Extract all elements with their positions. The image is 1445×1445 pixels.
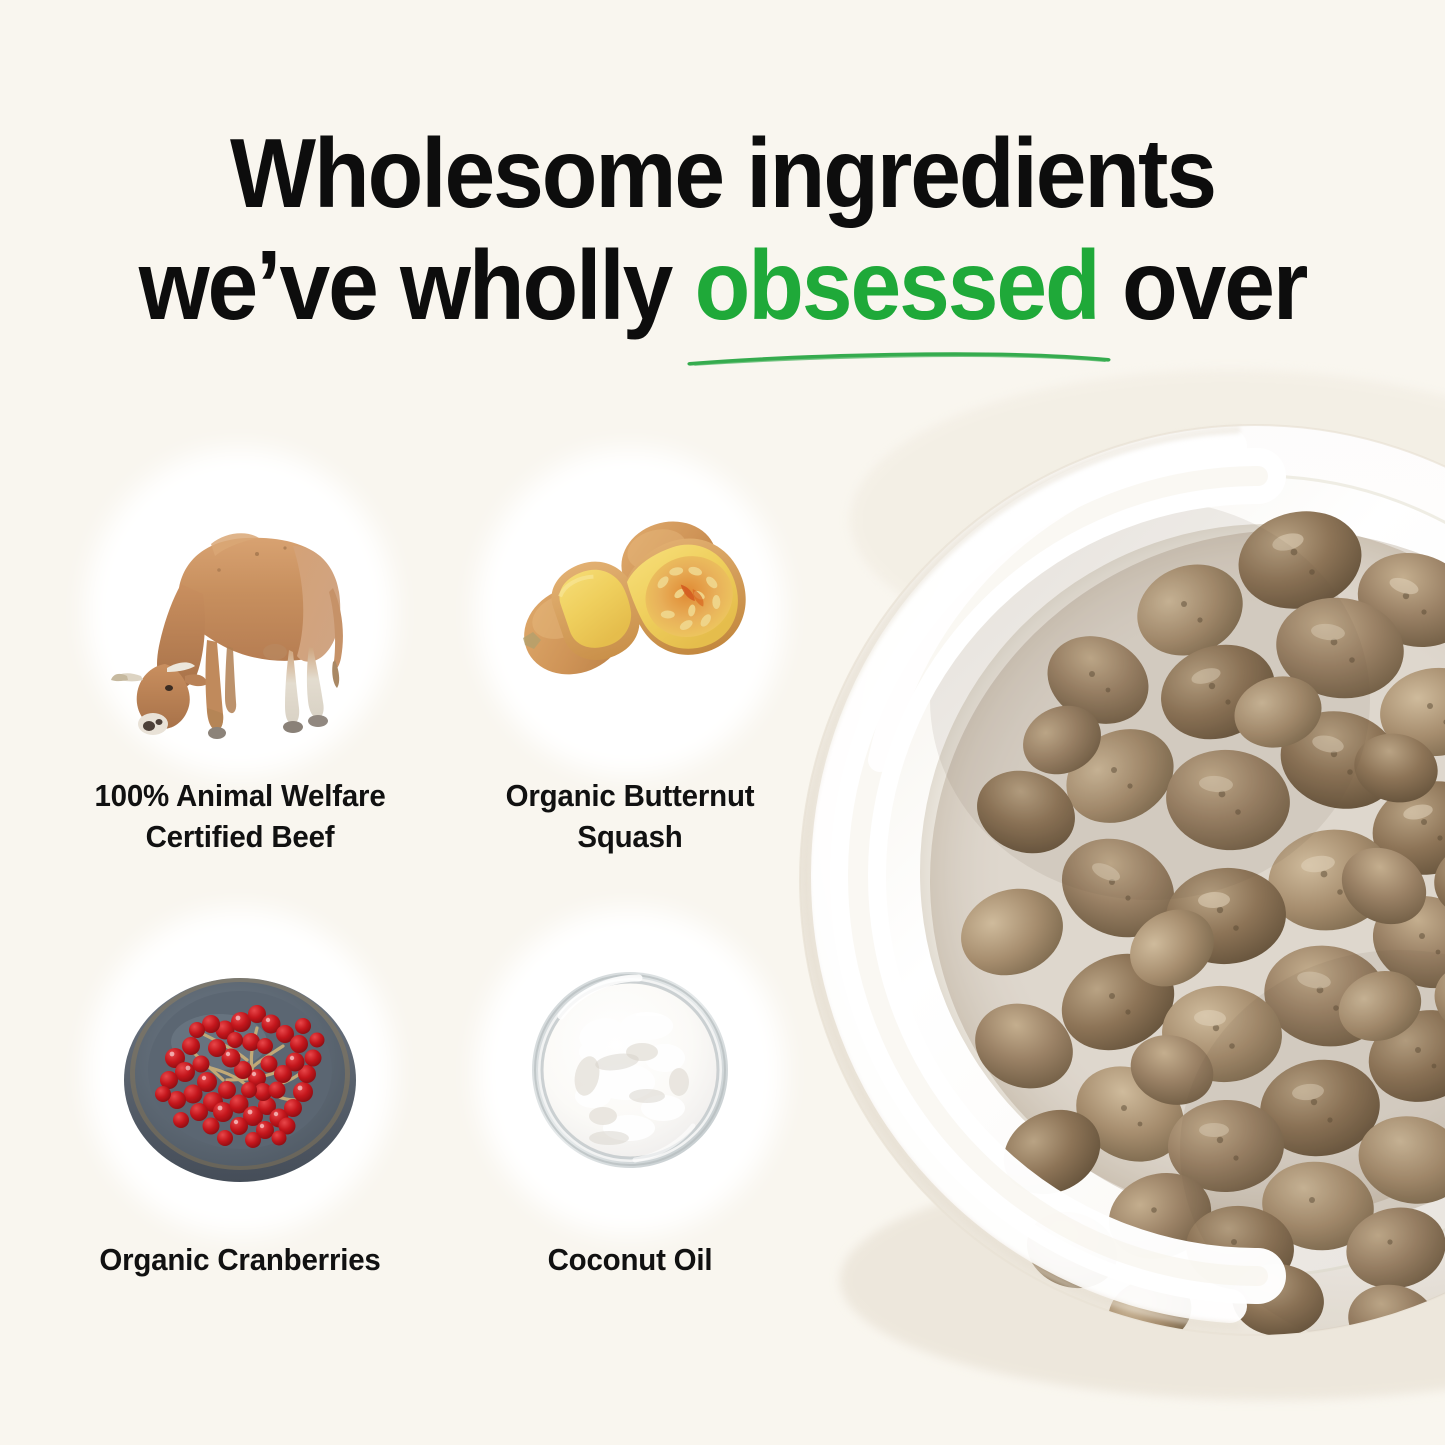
ingredients-grid: 100% Animal Welfare Certified Beef	[0, 470, 880, 1350]
ingredient-label-beef-line2: Certified Beef	[50, 817, 430, 858]
ingredient-image-squash	[497, 470, 763, 754]
ingredient-label-squash: Organic Butternut Squash	[440, 776, 820, 858]
grazing-cow-icon	[107, 470, 373, 754]
ingredient-item-cranberries: Organic Cranberries	[40, 930, 440, 1281]
promo-canvas: Wholesome ingredients we’ve wholly obses…	[0, 0, 1445, 1445]
headline-line-2: we’ve wholly obsessed over	[51, 230, 1395, 342]
ingredient-item-squash: Organic Butternut Squash	[430, 470, 830, 858]
cranberries-bowl-icon	[107, 930, 373, 1214]
ingredient-label-coconut-oil: Coconut Oil	[440, 1240, 820, 1281]
headline-line-1: Wholesome ingredients	[51, 118, 1395, 230]
ingredient-image-coconut-oil	[497, 930, 763, 1214]
underline-swoosh-icon	[687, 351, 1112, 367]
ingredient-label-beef-line1: 100% Animal Welfare	[50, 776, 430, 817]
ingredient-item-beef: 100% Animal Welfare Certified Beef	[40, 470, 440, 858]
page-title: Wholesome ingredients we’ve wholly obses…	[51, 118, 1395, 341]
ingredient-label-squash-line1: Organic Butternut	[440, 776, 820, 817]
ingredient-label-beef: 100% Animal Welfare Certified Beef	[50, 776, 430, 858]
headline-line-2-prefix: we’ve wholly	[139, 230, 695, 340]
ingredient-label-squash-line2: Squash	[440, 817, 820, 858]
ingredient-label-coconut-oil-line1: Coconut Oil	[440, 1240, 820, 1281]
ingredient-image-cranberries	[107, 930, 373, 1214]
ingredient-label-cranberries-line1: Organic Cranberries	[50, 1240, 430, 1281]
headline-line-2-suffix: over	[1099, 230, 1307, 340]
headline-accent-word: obsessed	[695, 230, 1099, 340]
ingredient-label-cranberries: Organic Cranberries	[50, 1240, 430, 1281]
butternut-squash-icon	[497, 470, 763, 754]
headline-accent-wrap: obsessed	[695, 230, 1099, 342]
coconut-oil-jar-icon	[497, 930, 763, 1214]
ingredient-image-beef	[107, 470, 373, 754]
ingredient-item-coconut-oil: Coconut Oil	[430, 930, 830, 1281]
